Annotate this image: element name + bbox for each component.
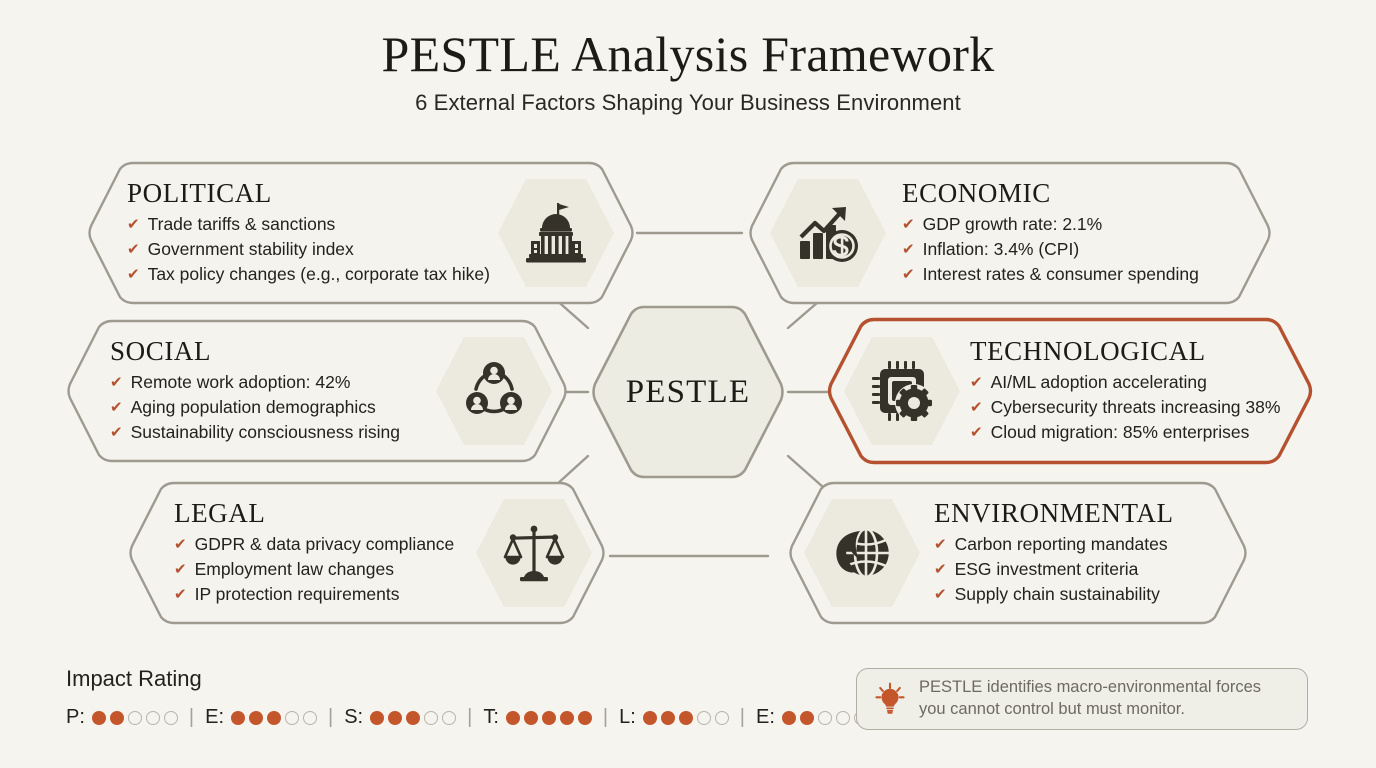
rating-dot-filled [506, 711, 520, 725]
bullet-text: Aging population demographics [131, 395, 376, 420]
bullet-text: Employment law changes [195, 557, 394, 582]
rating-dot-filled [524, 711, 538, 725]
rating-dot-filled [92, 711, 106, 725]
bullet-text: GDP growth rate: 2.1% [923, 212, 1103, 237]
bullet-text: Remote work adoption: 42% [131, 370, 351, 395]
bullet-text: Tax policy changes (e.g., corporate tax … [148, 262, 490, 287]
check-icon: ✔ [934, 587, 947, 602]
page-title: PESTLE Analysis Framework [0, 26, 1376, 82]
rating-letter: E: [205, 706, 224, 729]
rating-dots [370, 711, 460, 725]
lightbulb-icon [873, 682, 907, 716]
check-icon: ✔ [127, 267, 140, 282]
check-icon: ✔ [174, 587, 187, 602]
rating-dot-filled [231, 711, 245, 725]
rating-dot-empty [715, 711, 729, 725]
check-icon: ✔ [110, 425, 123, 440]
check-icon: ✔ [970, 375, 983, 390]
panel-environmental-bullets: ✔Carbon reporting mandates ✔ESG investme… [934, 532, 1244, 607]
rating-dots [506, 711, 596, 725]
list-item: ✔Inflation: 3.4% (CPI) [902, 237, 1268, 262]
tip-box: PESTLE identifies macro-environmental fo… [856, 668, 1308, 730]
panel-technological-bullets: ✔AI/ML adoption accelerating ✔Cybersecur… [970, 370, 1310, 445]
rating-letter: L: [619, 706, 636, 729]
rating-letter: T: [483, 706, 499, 729]
panel-economic[interactable]: ECONOMIC ✔GDP growth rate: 2.1% ✔Inflati… [746, 160, 1274, 306]
list-item: ✔Employment law changes [174, 557, 468, 582]
bullet-text: Interest rates & consumer spending [923, 262, 1199, 287]
rating-group: E: [756, 706, 872, 729]
page-subtitle: 6 External Factors Shaping Your Business… [0, 90, 1376, 116]
panel-political-bullets: ✔Trade tariffs & sanctions ✔Government s… [127, 212, 490, 287]
rating-dot-filled [661, 711, 675, 725]
header: PESTLE Analysis Framework 6 External Fac… [0, 0, 1376, 116]
chip-gear-icon [870, 359, 934, 423]
check-icon: ✔ [902, 267, 915, 282]
check-icon: ✔ [127, 217, 140, 232]
panel-social[interactable]: SOCIAL ✔Remote work adoption: 42% ✔Aging… [64, 318, 570, 464]
bullet-text: AI/ML adoption accelerating [991, 370, 1207, 395]
bullet-text: Cybersecurity threats increasing 38% [991, 395, 1281, 420]
panel-technological-icon-area [842, 331, 962, 451]
diagram-stage: POLITICAL ✔Trade tariffs & sanctions ✔Go… [0, 150, 1376, 640]
list-item: ✔Government stability index [127, 237, 490, 262]
rating-dot-filled [782, 711, 796, 725]
rating-dot-filled [406, 711, 420, 725]
pestle-infographic: PESTLE Analysis Framework 6 External Fac… [0, 0, 1376, 768]
rating-dot-filled [542, 711, 556, 725]
check-icon: ✔ [902, 217, 915, 232]
rating-letter: P: [66, 706, 85, 729]
list-item: ✔ESG investment criteria [934, 557, 1244, 582]
list-item: ✔Cybersecurity threats increasing 38% [970, 395, 1310, 420]
rating-dot-filled [800, 711, 814, 725]
list-item: ✔IP protection requirements [174, 582, 468, 607]
rating-dot-filled [110, 711, 124, 725]
bullet-text: Carbon reporting mandates [955, 532, 1168, 557]
rating-dot-filled [388, 711, 402, 725]
impact-rating-block: Impact Rating P:|E:|S:|T:|L:|E: [66, 666, 872, 729]
panel-technological-heading: TECHNOLOGICAL [970, 337, 1310, 365]
bullet-text: IP protection requirements [195, 582, 400, 607]
list-item: ✔Aging population demographics [110, 395, 428, 420]
rating-dot-empty [424, 711, 438, 725]
list-item: ✔Trade tariffs & sanctions [127, 212, 490, 237]
growth-chart-dollar-icon [796, 201, 860, 265]
rating-dots [643, 711, 733, 725]
check-icon: ✔ [934, 537, 947, 552]
panel-environmental-heading: ENVIRONMENTAL [934, 499, 1244, 527]
list-item: ✔Cloud migration: 85% enterprises [970, 420, 1310, 445]
list-item: ✔Remote work adoption: 42% [110, 370, 428, 395]
list-item: ✔GDPR & data privacy compliance [174, 532, 468, 557]
check-icon: ✔ [110, 400, 123, 415]
panel-legal-heading: LEGAL [174, 499, 468, 527]
check-icon: ✔ [127, 242, 140, 257]
people-group-icon [462, 359, 526, 423]
check-icon: ✔ [174, 562, 187, 577]
panel-economic-icon-area [768, 173, 888, 293]
rating-dot-filled [249, 711, 263, 725]
list-item: ✔Sustainability consciousness rising [110, 420, 428, 445]
panel-economic-heading: ECONOMIC [902, 179, 1268, 207]
tip-text: PESTLE identifies macro-environmental fo… [919, 677, 1291, 721]
rating-dot-filled [643, 711, 657, 725]
list-item: ✔AI/ML adoption accelerating [970, 370, 1310, 395]
bullet-text: GDPR & data privacy compliance [195, 532, 455, 557]
panel-social-heading: SOCIAL [110, 337, 428, 365]
center-hexagon-label: PESTLE [588, 302, 788, 482]
rating-dot-empty [442, 711, 456, 725]
panel-technological[interactable]: TECHNOLOGICAL ✔AI/ML adoption accelerati… [824, 316, 1316, 466]
rating-separator: | [189, 706, 194, 729]
rating-dot-empty [836, 711, 850, 725]
bullet-text: ESG investment criteria [955, 557, 1139, 582]
impact-rating-title: Impact Rating [66, 666, 872, 692]
rating-separator: | [603, 706, 608, 729]
impact-rating-row: P:|E:|S:|T:|L:|E: [66, 706, 872, 729]
globe-leaf-icon [830, 521, 894, 585]
panel-environmental[interactable]: ENVIRONMENTAL ✔Carbon reporting mandates… [786, 480, 1250, 626]
rating-group: S: [344, 706, 460, 729]
rating-dot-empty [697, 711, 711, 725]
rating-letter: E: [756, 706, 775, 729]
capitol-icon [524, 201, 588, 265]
rating-dot-empty [128, 711, 142, 725]
rating-dot-empty [818, 711, 832, 725]
panel-social-icon-area [434, 331, 554, 451]
rating-group: L: [619, 706, 733, 729]
panel-political-icon-area [496, 173, 616, 293]
bullet-text: Inflation: 3.4% (CPI) [923, 237, 1080, 262]
rating-dot-filled [370, 711, 384, 725]
list-item: ✔Tax policy changes (e.g., corporate tax… [127, 262, 490, 287]
bullet-text: Supply chain sustainability [955, 582, 1160, 607]
bullet-text: Government stability index [148, 237, 354, 262]
rating-letter: S: [344, 706, 363, 729]
list-item: ✔Supply chain sustainability [934, 582, 1244, 607]
bullet-text: Sustainability consciousness rising [131, 420, 400, 445]
panel-environmental-icon-area [802, 493, 922, 613]
scales-of-justice-icon [502, 521, 566, 585]
check-icon: ✔ [110, 375, 123, 390]
bullet-text: Trade tariffs & sanctions [148, 212, 336, 237]
list-item: ✔Carbon reporting mandates [934, 532, 1244, 557]
panel-political-heading: POLITICAL [127, 179, 490, 207]
rating-group: P: [66, 706, 182, 729]
rating-separator: | [740, 706, 745, 729]
rating-dot-empty [164, 711, 178, 725]
panel-economic-bullets: ✔GDP growth rate: 2.1% ✔Inflation: 3.4% … [902, 212, 1268, 287]
rating-dot-empty [146, 711, 160, 725]
list-item: ✔GDP growth rate: 2.1% [902, 212, 1268, 237]
bullet-text: Cloud migration: 85% enterprises [991, 420, 1250, 445]
check-icon: ✔ [970, 425, 983, 440]
list-item: ✔Interest rates & consumer spending [902, 262, 1268, 287]
check-icon: ✔ [970, 400, 983, 415]
center-hexagon[interactable]: PESTLE [588, 302, 788, 482]
check-icon: ✔ [174, 537, 187, 552]
rating-dots [231, 711, 321, 725]
panel-legal-bullets: ✔GDPR & data privacy compliance ✔Employm… [174, 532, 468, 607]
rating-dots [92, 711, 182, 725]
rating-dot-empty [285, 711, 299, 725]
check-icon: ✔ [902, 242, 915, 257]
rating-dot-filled [267, 711, 281, 725]
rating-dot-filled [560, 711, 574, 725]
rating-separator: | [328, 706, 333, 729]
rating-group: E: [205, 706, 321, 729]
rating-dot-filled [578, 711, 592, 725]
panel-political[interactable]: POLITICAL ✔Trade tariffs & sanctions ✔Go… [85, 160, 637, 306]
check-icon: ✔ [934, 562, 947, 577]
rating-group: T: [483, 706, 596, 729]
panel-legal[interactable]: LEGAL ✔GDPR & data privacy compliance ✔E… [126, 480, 608, 626]
panel-legal-icon-area [474, 493, 594, 613]
rating-dot-filled [679, 711, 693, 725]
rating-separator: | [467, 706, 472, 729]
panel-social-bullets: ✔Remote work adoption: 42% ✔Aging popula… [110, 370, 428, 445]
rating-dot-empty [303, 711, 317, 725]
